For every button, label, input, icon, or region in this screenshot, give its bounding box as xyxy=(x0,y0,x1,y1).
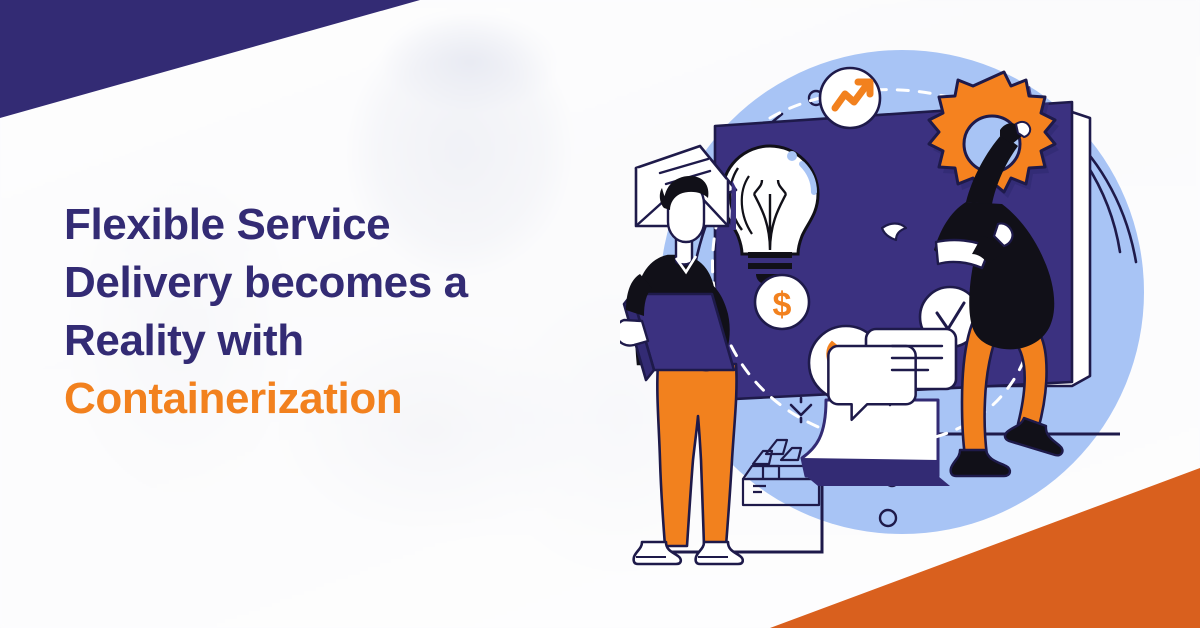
marketing-banner: Flexible Service Delivery becomes a Real… xyxy=(0,0,1200,628)
svg-text:$: $ xyxy=(773,286,792,324)
headline-line-2: Delivery becomes a xyxy=(64,254,604,312)
headline-line-4-accent: Containerization xyxy=(64,370,604,428)
headline-line-3: Reality with xyxy=(64,312,604,370)
dollar-icon: $ xyxy=(755,275,809,329)
trending-up-icon xyxy=(820,68,880,128)
page-title: Flexible Service Delivery becomes a Real… xyxy=(64,196,604,428)
headline-line-1: Flexible Service xyxy=(64,196,604,254)
illustration: $ xyxy=(620,30,1190,590)
